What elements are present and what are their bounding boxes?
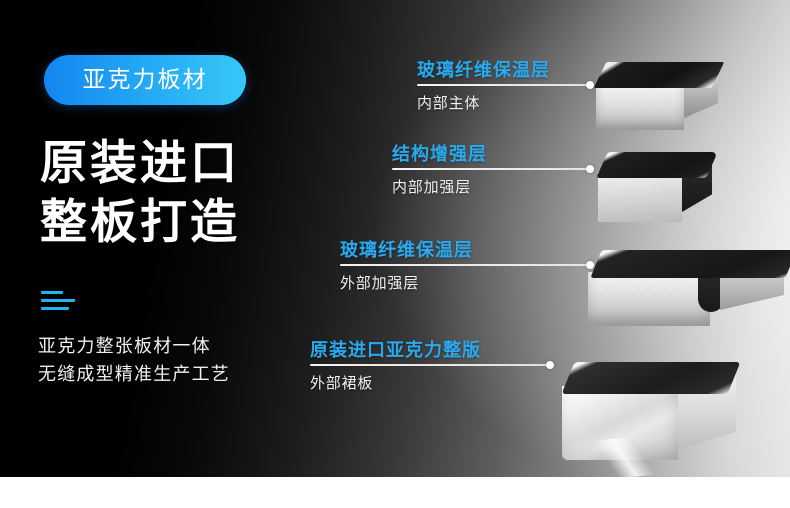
callout-4-title: 原装进口亚克力整版 — [310, 336, 550, 362]
callout-3-leader-line — [340, 264, 590, 266]
callout-4: 原装进口亚克力整版 外部裙板 — [310, 336, 550, 393]
hamburger-bar-1 — [41, 291, 63, 294]
callout-4-leader-line — [310, 364, 550, 366]
product-1-front-face — [596, 84, 684, 130]
product-3-top-face — [590, 250, 790, 278]
callout-1-leader-line — [417, 84, 590, 86]
product-3-front-face — [588, 272, 710, 326]
headline-line-1: 原装进口 — [40, 134, 240, 193]
callout-3: 玻璃纤维保温层 外部加强层 — [340, 236, 590, 293]
hamburger-icon — [41, 291, 75, 310]
product-2-front-face — [598, 172, 682, 222]
callout-4-subtitle: 外部裙板 — [310, 372, 550, 393]
subtitle-text: 亚克力整张板材一体 无缝成型精准生产工艺 — [38, 333, 230, 390]
callout-3-subtitle: 外部加强层 — [340, 272, 590, 293]
hamburger-bar-3 — [41, 307, 69, 310]
category-badge-label: 亚克力板材 — [83, 69, 208, 92]
product-4-top-face — [562, 362, 741, 394]
callout-2-leader-line — [392, 168, 590, 170]
callout-1-dot-icon — [586, 81, 594, 89]
product-layer-inner-body — [596, 62, 720, 134]
product-1-top-face — [594, 62, 725, 88]
callout-2-dot-icon — [586, 165, 594, 173]
callout-3-title: 玻璃纤维保温层 — [340, 236, 590, 262]
product-feature-banner: 亚克力板材 原装进口 整板打造 亚克力整张板材一体 无缝成型精准生产工艺 玻璃纤… — [0, 0, 790, 477]
callout-2: 结构增强层 内部加强层 — [392, 140, 590, 197]
callout-1-title: 玻璃纤维保温层 — [417, 56, 590, 82]
product-4-front-face — [562, 386, 678, 460]
page-title: 原装进口 整板打造 — [40, 134, 240, 252]
headline-line-2: 整板打造 — [40, 193, 240, 252]
product-layer-outer-reinforce — [588, 250, 790, 330]
callout-2-title: 结构增强层 — [392, 140, 590, 166]
callout-4-dot-icon — [546, 361, 554, 369]
subtitle-line-2: 无缝成型精准生产工艺 — [38, 361, 230, 389]
product-4-gloss-highlight — [578, 434, 666, 477]
callout-1: 玻璃纤维保温层 内部主体 — [417, 56, 590, 113]
subtitle-line-1: 亚克力整张板材一体 — [38, 333, 230, 361]
product-layer-acrylic-skirt — [562, 362, 742, 466]
hamburger-bar-2 — [41, 299, 75, 302]
product-layer-inner-reinforce — [598, 152, 716, 224]
callout-1-subtitle: 内部主体 — [417, 92, 590, 113]
category-badge[interactable]: 亚克力板材 — [44, 55, 246, 105]
product-2-top-face — [596, 152, 718, 178]
callout-2-subtitle: 内部加强层 — [392, 176, 590, 197]
